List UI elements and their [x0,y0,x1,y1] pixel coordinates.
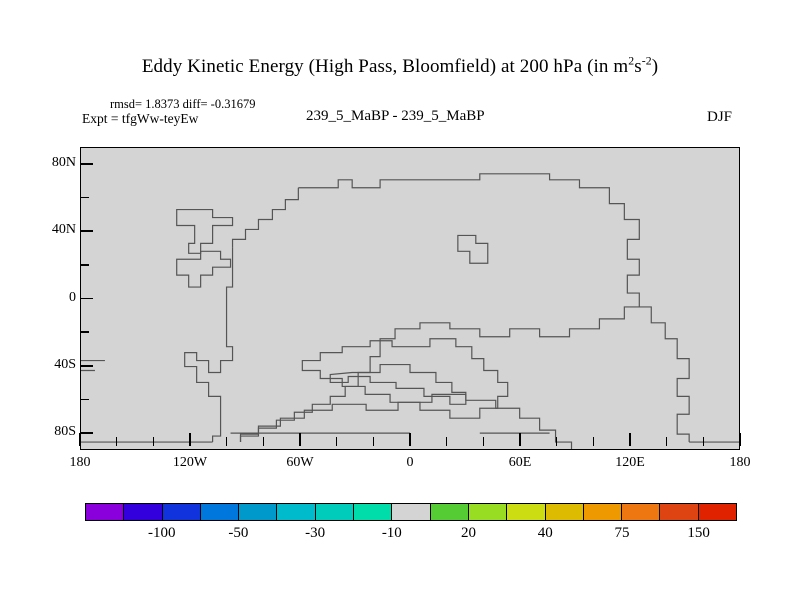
season-label: DJF [707,109,732,126]
colorbar-swatch [507,504,545,520]
colorbar-tick-label: 150 [687,525,710,542]
y-axis-major-tick [80,230,93,232]
y-axis-minor-tick [80,264,89,266]
x-axis-minor-tick [703,437,705,446]
colorbar-swatch [277,504,315,520]
colorbar-swatch [660,504,698,520]
x-axis-tick-label: 120W [173,455,207,471]
x-axis-major-tick [189,433,191,446]
contour-cell-small-square [458,235,488,263]
page-title: Eddy Kinetic Energy (High Pass, Bloomfie… [0,56,800,78]
contour-loop-outer [302,339,507,418]
contour-right-edge [639,307,689,442]
colorbar-swatch [392,504,430,520]
colorbar-tick-label: -10 [382,525,402,542]
colorbar-tick-label: 40 [538,525,553,542]
x-axis-tick-label: 180 [730,455,751,471]
contour-loop-inner [330,365,466,405]
y-axis-tick-label: 40N [52,222,76,238]
colorbar-swatch [622,504,660,520]
x-axis-major-tick [299,433,301,446]
colorbar-swatch [86,504,124,520]
x-axis-minor-tick [666,437,668,446]
colorbar-tick-label: 20 [461,525,476,542]
x-axis-minor-tick [556,437,558,446]
y-axis-tick-label: 40S [54,357,76,373]
colorbar-tick-label: 75 [614,525,629,542]
zero-contour-overlay [81,148,739,449]
x-axis-minor-tick [226,437,228,446]
colorbar-swatch [546,504,584,520]
x-axis-tick-label: 180 [70,455,91,471]
y-axis-major-tick [80,298,93,300]
x-axis-tick-label: 60W [286,455,313,471]
colorbar-swatch [124,504,162,520]
y-axis-major-tick [80,365,93,367]
contour-north-eurasia [233,174,640,442]
x-axis-major-tick [409,433,411,446]
x-axis-minor-tick [483,437,485,446]
x-axis-minor-tick [336,437,338,446]
title-text-main: Eddy Kinetic Energy (High Pass, Bloomfie… [142,56,628,77]
y-axis-major-tick [80,432,93,434]
rmsd-diff-statistics: rmsd= 1.8373 diff= -0.31679 [110,97,255,112]
colorbar-tick-label: -100 [148,525,176,542]
contour-americas-edge [185,247,233,442]
title-text-mid: s [634,56,642,77]
contour-paths [81,174,739,449]
colorbar [85,503,737,521]
y-axis-tick-label: 0 [69,290,76,306]
x-axis-major-tick [629,433,631,446]
colorbar-swatch [316,504,354,520]
contour-cell-mid-left [177,251,231,287]
y-axis-minor-tick [80,197,89,199]
colorbar-swatch [699,504,736,520]
contour-cell-upper-left [177,210,233,254]
colorbar-swatch [584,504,622,520]
colorbar-swatch [239,504,277,520]
x-axis-minor-tick [446,437,448,446]
x-axis-major-tick [739,433,741,446]
colorbar-swatch [431,504,469,520]
x-axis-tick-label: 60E [509,455,532,471]
x-axis-minor-tick [593,437,595,446]
x-axis-tick-label: 0 [407,455,414,471]
x-axis-tick-label: 120E [615,455,645,471]
y-axis-tick-label: 80N [52,155,76,171]
contour-southern-arc [241,394,572,449]
title-superscript-minus2: -2 [642,55,652,68]
colorbar-swatch [201,504,239,520]
colorbar-tick-label: -50 [228,525,248,542]
x-axis-minor-tick [263,437,265,446]
y-axis-minor-tick [80,399,89,401]
dataset-comparison-label: 239_5_MaBP - 239_5_MaBP [306,108,485,125]
x-axis-minor-tick [373,437,375,446]
map-plot-area [80,147,740,450]
colorbar-tick-label: -30 [305,525,325,542]
x-axis-major-tick [79,433,81,446]
colorbar-swatch [354,504,392,520]
y-axis-minor-tick [80,331,89,333]
x-axis-minor-tick [153,437,155,446]
x-axis-major-tick [519,433,521,446]
colorbar-swatch [163,504,201,520]
title-text-end: ) [652,56,658,77]
y-axis-major-tick [80,163,93,165]
colorbar-swatch [469,504,507,520]
experiment-label: Expt = tfgWw-teyEw [82,111,198,127]
x-axis-minor-tick [116,437,118,446]
y-axis-tick-label: 80S [54,424,76,440]
